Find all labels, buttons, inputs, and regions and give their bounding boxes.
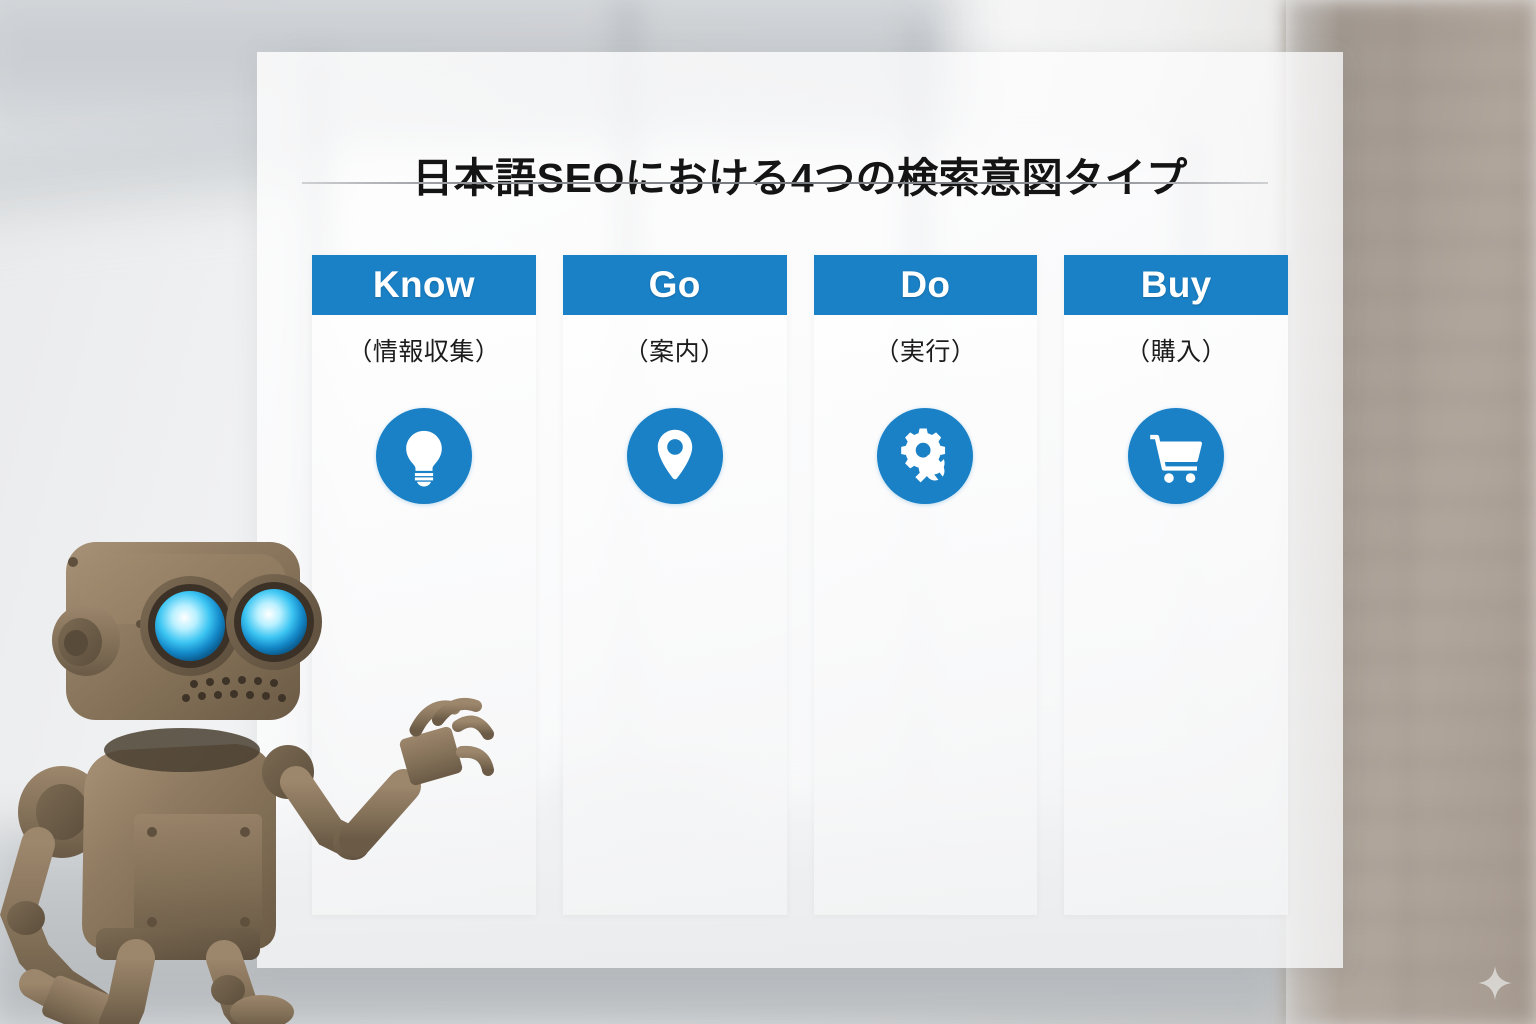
intent-card-icon-area xyxy=(563,408,787,504)
intent-card-header: Know xyxy=(312,255,536,315)
intent-type-card-group: Know （情報収集） Go （案内） xyxy=(312,255,1288,915)
intent-card-header: Buy xyxy=(1064,255,1288,315)
intent-card-buy[interactable]: Buy （購入） xyxy=(1064,255,1288,915)
intent-card-go[interactable]: Go （案内） xyxy=(563,255,787,915)
intent-card-subtitle: （購入） xyxy=(1064,332,1288,368)
intent-card-subtitle: （案内） xyxy=(563,332,787,368)
sparkle-icon xyxy=(1478,966,1512,1000)
shopping-cart-icon xyxy=(1128,408,1224,504)
gear-wrench-icon xyxy=(877,408,973,504)
intent-card-icon-area xyxy=(312,408,536,504)
lightbulb-icon xyxy=(376,408,472,504)
slide-canvas: 日本語SEOにおける4つの検索意図タイプ Know （情報収集） xyxy=(0,0,1536,1024)
content-panel: 日本語SEOにおける4つの検索意図タイプ Know （情報収集） xyxy=(257,52,1343,968)
intent-card-subtitle: （情報収集） xyxy=(312,332,536,368)
intent-card-subtitle: （実行） xyxy=(814,332,1038,368)
intent-card-header: Go xyxy=(563,255,787,315)
title-divider xyxy=(302,182,1268,184)
intent-card-icon-area xyxy=(814,408,1038,504)
page-title: 日本語SEOにおける4つの検索意図タイプ xyxy=(257,144,1343,204)
intent-card-header: Do xyxy=(814,255,1038,315)
intent-card-know[interactable]: Know （情報収集） xyxy=(312,255,536,915)
intent-card-do[interactable]: Do （実行） xyxy=(814,255,1038,915)
map-pin-icon xyxy=(627,408,723,504)
intent-card-icon-area xyxy=(1064,408,1288,504)
